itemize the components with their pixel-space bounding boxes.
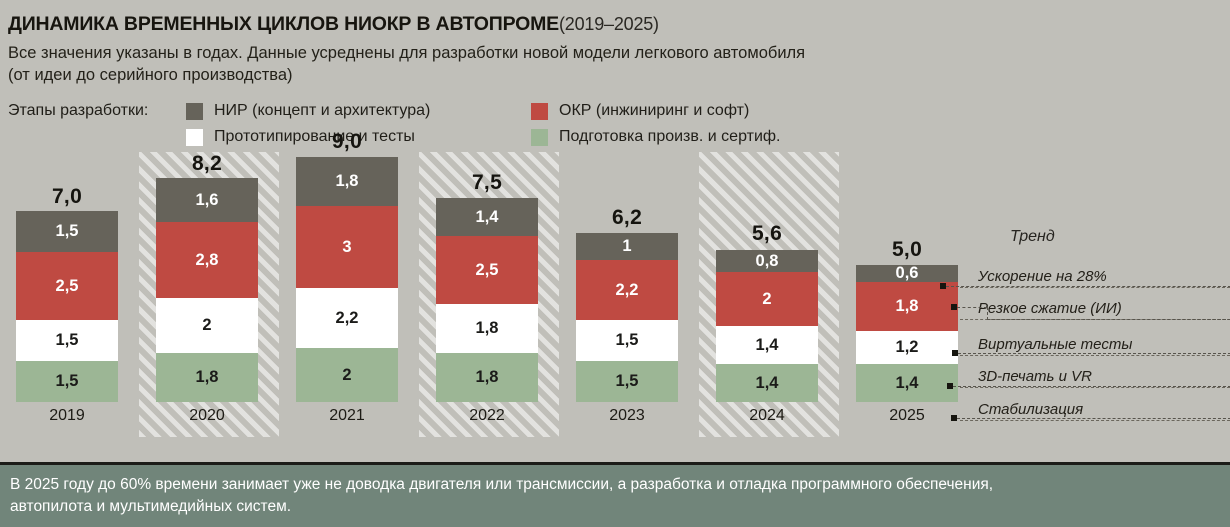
bar-2020[interactable]: 1,6 2,8 2 1,8: [156, 178, 258, 402]
x-axis-label-2024: 2024: [716, 402, 818, 430]
segment-proto-2019[interactable]: 1,5: [16, 320, 118, 361]
legend-label-prod: Подготовка произв. и сертиф.: [559, 128, 780, 146]
title-main: ДИНАМИКА ВРЕМЕННЫХ ЦИКЛОВ НИОКР В АВТОПР…: [8, 13, 559, 35]
segment-proto-2025[interactable]: 1,2: [856, 331, 958, 364]
trend-label-compression: Резкое сжатие (ИИ): [978, 300, 1122, 317]
segment-prod-2022[interactable]: 1,8: [436, 353, 538, 402]
leader-line-nir: [957, 307, 987, 308]
leader-line-prod: [957, 418, 1230, 419]
trend-row-compression: Резкое сжатие (ИИ): [960, 296, 1230, 320]
trend-label-acceleration: Ускорение на 28%: [978, 268, 1107, 285]
x-axis-label-2025: 2025: [856, 402, 958, 430]
segment-prod-2019[interactable]: 1,5: [16, 361, 118, 402]
segment-prod-2020[interactable]: 1,8: [156, 353, 258, 402]
bar-2019[interactable]: 1,5 2,5 1,5 1,5: [16, 211, 118, 402]
trend-rule-3d-printing: [960, 387, 1230, 388]
title-year-range: (2019–2025): [559, 14, 659, 34]
bar-total-2023: 6,2: [576, 206, 678, 230]
segment-okr-2021[interactable]: 3: [296, 206, 398, 288]
legend-swatch-okr: [531, 103, 548, 120]
segment-okr-2019[interactable]: 2,5: [16, 252, 118, 320]
segment-nir-2022[interactable]: 1,4: [436, 198, 538, 236]
bar-total-2025: 5,0: [856, 238, 958, 262]
page-title: ДИНАМИКА ВРЕМЕННЫХ ЦИКЛОВ НИОКР В АВТОПР…: [8, 12, 1218, 36]
subtitle-line-2: (от идеи до серийного производства): [8, 64, 1218, 86]
legend-swatch-nir: [186, 103, 203, 120]
trend-rule-virtual-tests: [960, 355, 1230, 356]
leader-line-proto: [953, 386, 1230, 387]
segment-nir-2020[interactable]: 1,6: [156, 178, 258, 222]
bar-2022[interactable]: 1,4 2,5 1,8 1,8: [436, 198, 538, 402]
header: ДИНАМИКА ВРЕМЕННЫХ ЦИКЛОВ НИОКР В АВТОПР…: [8, 12, 1218, 86]
x-axis-label-2019: 2019: [16, 402, 118, 430]
segment-prod-2023[interactable]: 1,5: [576, 361, 678, 402]
bar-total-2024: 5,6: [716, 222, 818, 246]
segment-okr-2024[interactable]: 2: [716, 272, 818, 326]
segment-prod-2021[interactable]: 2: [296, 348, 398, 402]
segment-nir-2021[interactable]: 1,8: [296, 157, 398, 206]
segment-okr-2025[interactable]: 1,8: [856, 282, 958, 331]
footer-note: В 2025 году до 60% времени занимает уже …: [0, 462, 1230, 527]
footer-line-1: В 2025 году до 60% времени занимает уже …: [10, 474, 1210, 496]
legend-swatch-prod: [531, 129, 548, 146]
trend-label-3d-printing: 3D-печать и VR: [978, 368, 1092, 385]
segment-proto-2023[interactable]: 1,5: [576, 320, 678, 361]
bar-2021[interactable]: 1,8 3 2,2 2: [296, 157, 398, 402]
segment-proto-2022[interactable]: 1,8: [436, 304, 538, 353]
x-axis-label-2023: 2023: [576, 402, 678, 430]
segment-prod-2024[interactable]: 1,4: [716, 364, 818, 402]
trend-label-stabilization: Стабилизация: [978, 401, 1083, 418]
subtitle: Все значения указаны в годах. Данные уср…: [8, 42, 1218, 86]
bar-2024[interactable]: 0,8 2 1,4 1,4: [716, 250, 818, 402]
bar-2023[interactable]: 1 2,2 1,5 1,5: [576, 233, 678, 402]
segment-nir-2019[interactable]: 1,5: [16, 211, 118, 252]
subtitle-line-1: Все значения указаны в годах. Данные уср…: [8, 42, 1218, 64]
segment-proto-2024[interactable]: 1,4: [716, 326, 818, 364]
legend-item-okr[interactable]: ОКР (инжиниринг и софт): [531, 102, 749, 120]
segment-proto-2020[interactable]: 2: [156, 298, 258, 353]
segment-okr-2023[interactable]: 2,2: [576, 260, 678, 320]
legend-item-nir[interactable]: НИР (концепт и архитектура): [186, 102, 531, 120]
trend-row-acceleration: Ускорение на 28%: [960, 264, 1230, 288]
trend-label-virtual-tests: Виртуальные тесты: [978, 336, 1132, 353]
segment-okr-2020[interactable]: 2,8: [156, 222, 258, 298]
legend-item-prod[interactable]: Подготовка произв. и сертиф.: [531, 128, 780, 146]
footer-line-2: автопилота и мультимедийных систем.: [10, 496, 1210, 518]
legend-caption: Этапы разработки:: [8, 102, 186, 120]
legend-swatch-proto: [186, 129, 203, 146]
bar-total-2019: 7,0: [16, 185, 118, 209]
x-axis-label-2021: 2021: [296, 402, 398, 430]
leader-line-okr: [958, 353, 1230, 354]
segment-prod-2025[interactable]: 1,4: [856, 364, 958, 402]
bar-total-2022: 7,5: [436, 171, 538, 195]
legend-label-nir: НИР (концепт и архитектура): [214, 102, 430, 120]
legend: Этапы разработки: НИР (концепт и архитек…: [8, 98, 1008, 150]
trend-title: Тренд: [1010, 228, 1055, 246]
segment-nir-2024[interactable]: 0,8: [716, 250, 818, 272]
segment-nir-2025[interactable]: 0,6: [856, 265, 958, 282]
legend-row-2: Прототипирование и тесты Подготовка прои…: [8, 124, 1008, 150]
segment-okr-2022[interactable]: 2,5: [436, 236, 538, 304]
x-axis-label-2022: 2022: [436, 402, 538, 430]
legend-row-1: Этапы разработки: НИР (концепт и архитек…: [8, 98, 1008, 124]
trend-rule-acceleration: [960, 287, 1230, 288]
leader-line-total: [946, 286, 1230, 287]
segment-proto-2021[interactable]: 2,2: [296, 288, 398, 348]
bar-total-2021: 9,0: [296, 130, 398, 154]
segment-nir-2023[interactable]: 1: [576, 233, 678, 260]
infographic-page: ДИНАМИКА ВРЕМЕННЫХ ЦИКЛОВ НИОКР В АВТОПР…: [0, 0, 1230, 527]
trend-rule-stabilization: [960, 420, 1230, 421]
footer-text: В 2025 году до 60% времени занимает уже …: [10, 474, 1210, 518]
leader-line-nir-2: [987, 319, 1230, 320]
legend-label-okr: ОКР (инжиниринг и софт): [559, 102, 749, 120]
trend-row-3d-printing: 3D-печать и VR: [960, 364, 1230, 388]
x-axis-label-2020: 2020: [156, 402, 258, 430]
bar-total-2020: 8,2: [156, 152, 258, 176]
